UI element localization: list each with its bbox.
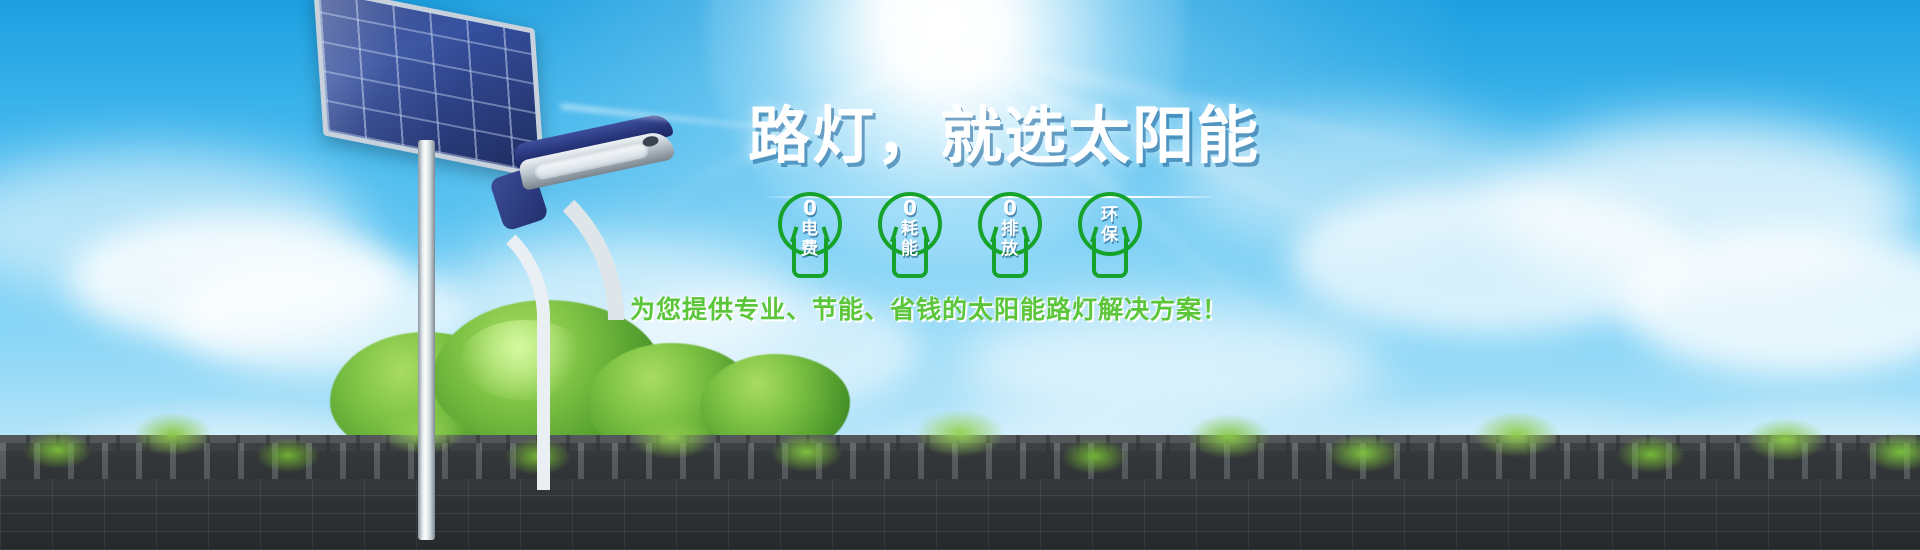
feature-badge[interactable]: 0 耗 能 <box>870 192 950 280</box>
badge-label-line1: 排 <box>970 220 1050 240</box>
feature-badge-list: 0 电 费 0 耗 能 0 排 放 <box>770 192 1210 282</box>
badge-number: 0 <box>970 198 1050 218</box>
badge-label-line1: 电 <box>770 220 850 240</box>
badge-label-line1: 耗 <box>870 220 950 240</box>
feature-badge[interactable]: 0 电 费 <box>770 192 850 280</box>
badge-label-line2: 保 <box>1070 226 1150 246</box>
badge-label: 电 费 <box>770 220 850 259</box>
badge-label: 耗 能 <box>870 220 950 259</box>
lamp-pole <box>418 140 435 540</box>
subtitle: 为您提供专业、节能、省钱的太阳能路灯解决方案！ <box>630 290 1230 326</box>
ivy-foliage <box>0 387 1920 492</box>
badge-number: 0 <box>770 198 850 218</box>
feature-badge[interactable]: 环 保 <box>1070 192 1150 280</box>
feature-badge[interactable]: 0 排 放 <box>970 192 1050 280</box>
badge-label: 环 保 <box>1070 206 1150 245</box>
badge-label-line2: 放 <box>970 240 1050 260</box>
badge-label-line2: 能 <box>870 240 950 260</box>
badge-label-line2: 费 <box>770 240 850 260</box>
page-title: 路灯，就选太阳能 <box>748 96 1218 176</box>
badge-label: 排 放 <box>970 220 1050 259</box>
badge-number: 0 <box>870 198 950 218</box>
solar-street-light-banner: 路灯，就选太阳能 0 电 费 0 耗 能 0 排 <box>0 0 1920 550</box>
badge-label-line1: 环 <box>1070 206 1150 226</box>
